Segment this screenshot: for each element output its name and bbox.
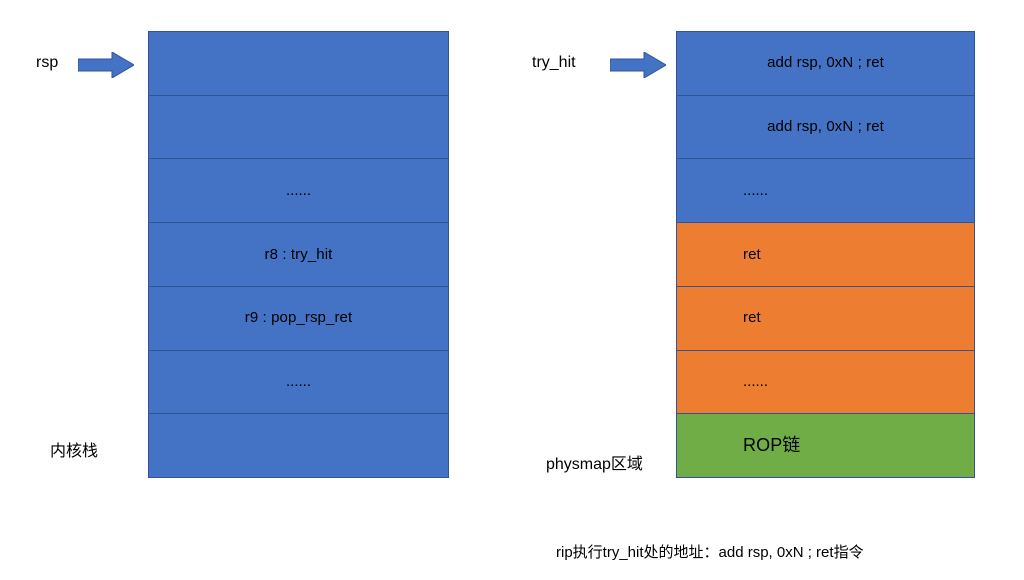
left-stack-pointer-label: rsp xyxy=(36,54,58,72)
table-row: add rsp, 0xN ; ret xyxy=(677,32,974,96)
table-row: ...... xyxy=(149,159,448,223)
table-row: ret xyxy=(677,287,974,351)
physmap-table: add rsp, 0xN ; ret add rsp, 0xN ; ret ..… xyxy=(676,31,975,478)
cell-text: ...... xyxy=(743,373,768,391)
cell-text: add rsp, 0xN ; ret xyxy=(767,118,884,136)
cell-text: ret xyxy=(743,309,761,327)
right-stack-pointer-label: try_hit xyxy=(532,54,576,72)
table-row xyxy=(149,414,448,477)
diagram-caption: rip执行try_hit处的地址：add rsp, 0xN ; ret指令 xyxy=(556,541,864,562)
cell-text: ...... xyxy=(743,182,768,200)
table-row xyxy=(149,32,448,96)
table-row xyxy=(149,96,448,160)
table-row: ...... xyxy=(677,159,974,223)
table-row: r8 : try_hit xyxy=(149,223,448,287)
cell-text: r9 : pop_rsp_ret xyxy=(245,309,353,327)
table-row: ...... xyxy=(677,351,974,415)
cell-text: ...... xyxy=(286,182,311,200)
try-hit-right-arrow-icon xyxy=(610,52,666,78)
cell-text: ROP链 xyxy=(743,435,800,457)
table-row: ROP链 xyxy=(677,414,974,477)
rsp-right-arrow-icon xyxy=(78,52,134,78)
kernel-stack-label: 内核栈 xyxy=(50,437,98,461)
cell-text: ret xyxy=(743,246,761,264)
table-row: ret xyxy=(677,223,974,287)
cell-text: ...... xyxy=(286,373,311,391)
kernel-stack-table: ...... r8 : try_hit r9 : pop_rsp_ret ...… xyxy=(148,31,449,478)
table-row: add rsp, 0xN ; ret xyxy=(677,96,974,160)
cell-text: r8 : try_hit xyxy=(265,246,333,264)
table-row: ...... xyxy=(149,351,448,415)
cell-text: add rsp, 0xN ; ret xyxy=(767,54,884,72)
physmap-label: physmap区域 xyxy=(546,450,643,474)
table-row: r9 : pop_rsp_ret xyxy=(149,287,448,351)
diagram-canvas: rsp ...... r8 : try_hit r9 : pop_rsp_ret… xyxy=(0,0,1024,580)
